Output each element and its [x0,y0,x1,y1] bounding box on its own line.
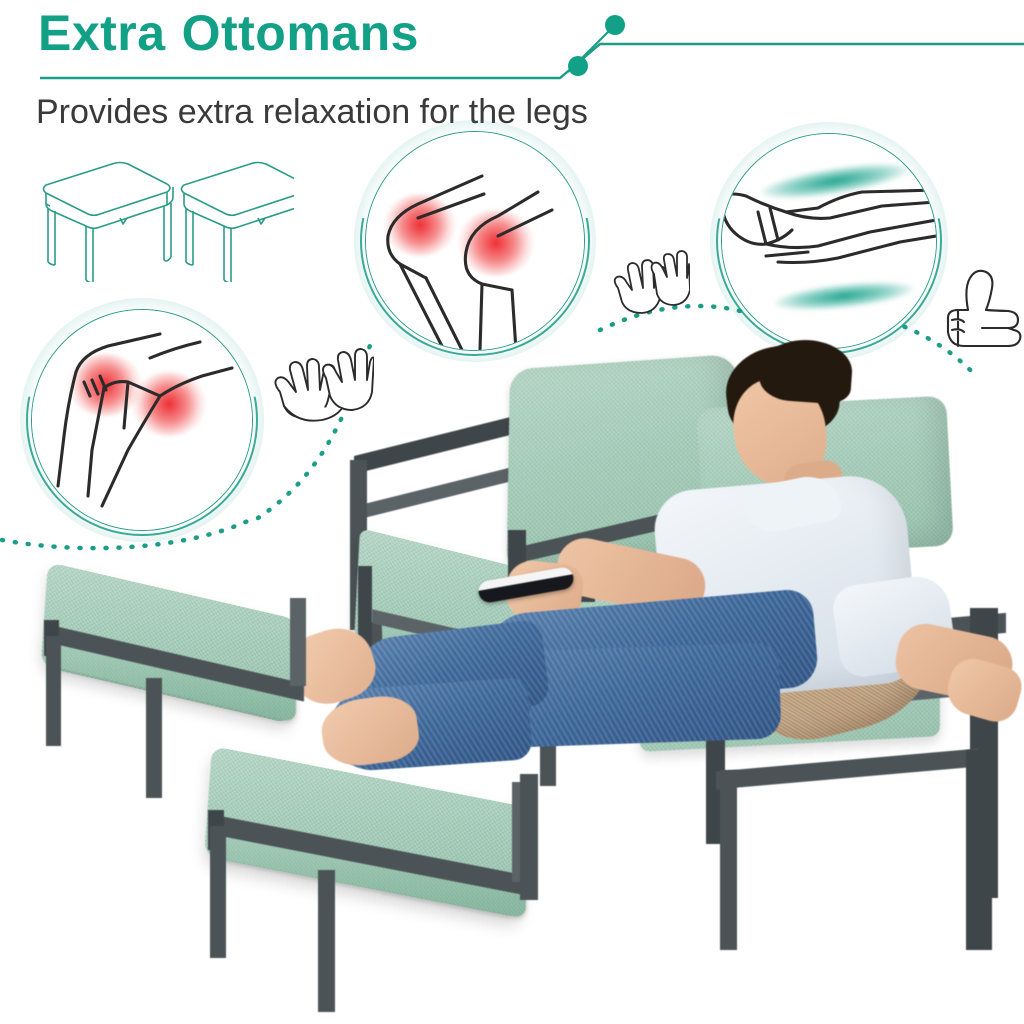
title-word-ottomans: Ottomans [182,5,419,61]
sofa-back-rail-mid [356,463,528,520]
ottoman-rear-leg-left [46,636,61,746]
circuit-dot-lower [568,56,588,76]
circle-knee-pain-top [360,126,590,356]
sofa-back-rail-top [354,412,530,474]
ottoman-rear-leg-right [290,598,306,686]
ottoman-front-leg-left [210,826,226,958]
product-photo-scene [0,330,1024,1024]
ottoman-front-leg-back [520,774,538,900]
open-hands-icon [608,244,690,322]
bent-knee-pain-icon [366,132,584,350]
extended-leg-comfort-icon [722,134,936,348]
ottoman-rear-leg-front [146,678,162,798]
circle-leg-relaxed-right [716,128,942,354]
ottoman-lineart-icon [24,152,294,282]
page-title: ExtraOttomans [38,4,419,62]
title-word-extra: Extra [38,5,166,61]
sofa-arm-leg-back [966,750,992,950]
sofa-arm-bottom-rail [716,749,978,790]
product-infographic: ExtraOttomans Provides extra relaxation … [0,0,1024,1024]
sofa-arm-leg-front [720,770,737,950]
ottoman-front-leg-center [318,870,335,1012]
circuit-dot-upper [605,15,625,35]
